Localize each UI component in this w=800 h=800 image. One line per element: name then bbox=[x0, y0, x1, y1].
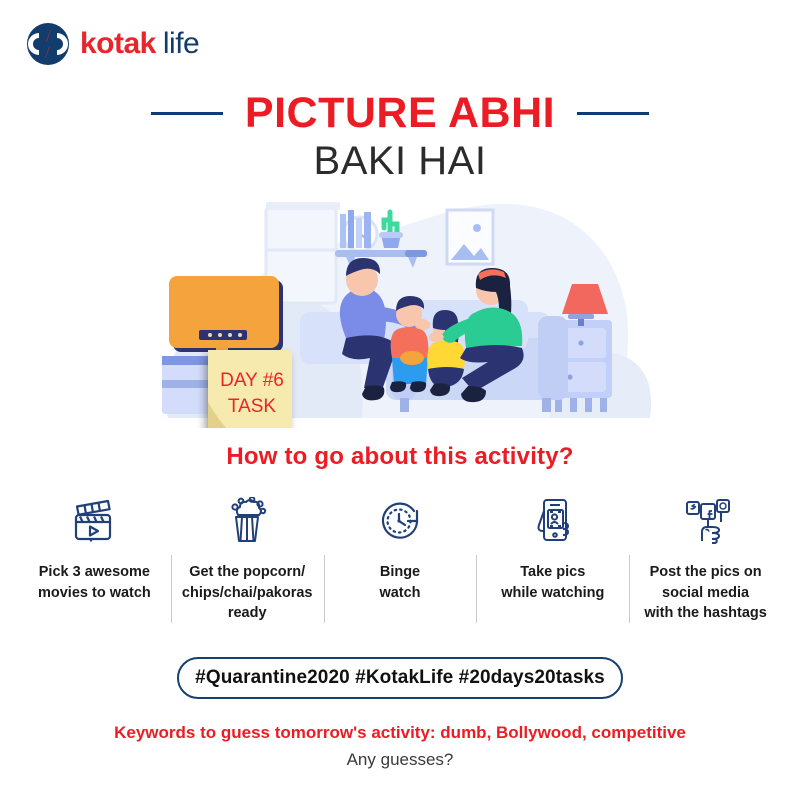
sofa-arm bbox=[538, 316, 568, 400]
step-label: Binge watch bbox=[379, 562, 420, 603]
sticky-note-line-2: TASK bbox=[228, 396, 277, 417]
step-item-popcorn: Get the popcorn/ chips/chai/pakoras read… bbox=[171, 493, 324, 624]
headline-rule-left bbox=[151, 112, 223, 115]
headline-rule-right bbox=[577, 112, 649, 115]
book bbox=[356, 218, 362, 248]
section-title: How to go about this activity? bbox=[0, 443, 800, 471]
step-label: Post the pics on social media with the h… bbox=[644, 562, 766, 624]
headline-line-1: PICTURE ABHI bbox=[245, 92, 555, 136]
popcorn-icon bbox=[222, 493, 272, 549]
footer-guess-prompt: Any guesses? bbox=[0, 750, 800, 770]
brand-logo: kotaklife bbox=[26, 22, 199, 66]
step-label: Pick 3 awesome movies to watch bbox=[38, 562, 151, 603]
cactus-plant bbox=[384, 212, 397, 234]
brand-name-secondary: life bbox=[163, 27, 199, 60]
headline-main-row: PICTURE ABHI bbox=[0, 92, 800, 136]
popcorn-bowl bbox=[400, 351, 424, 365]
hashtag-text: #Quarantine2020 #KotakLife #20days20task… bbox=[195, 667, 605, 689]
brand-wordmark: kotaklife bbox=[80, 29, 199, 59]
poster-canvas: kotaklife PICTURE ABHI BAKI HAI bbox=[0, 0, 800, 800]
social-media-hand-icon bbox=[681, 493, 731, 549]
step-item-post-social: Post the pics on social media with the h… bbox=[629, 493, 782, 624]
step-item-binge-watch: Binge watch bbox=[324, 493, 477, 603]
headline-line-2: BAKI HAI bbox=[0, 138, 800, 184]
sticky-note-line-1: DAY #6 bbox=[220, 370, 284, 391]
book bbox=[364, 212, 371, 248]
book bbox=[348, 210, 354, 248]
step-label: Get the popcorn/ chips/chai/pakoras read… bbox=[182, 562, 313, 624]
steps-row: Pick 3 awesome movies to watch Get the p… bbox=[18, 493, 782, 624]
clock-icon bbox=[376, 493, 424, 549]
phone-camera-icon bbox=[530, 493, 576, 549]
family-watching-tv-illustration: DAY #6 TASK bbox=[150, 188, 660, 428]
book bbox=[340, 214, 346, 248]
clapperboard-icon bbox=[69, 493, 119, 549]
brand-name-primary: kotak bbox=[80, 27, 156, 60]
hashtag-banner: #Quarantine2020 #KotakLife #20days20task… bbox=[177, 657, 623, 699]
step-item-pick-movies: Pick 3 awesome movies to watch bbox=[18, 493, 171, 603]
headline-block: PICTURE ABHI BAKI HAI bbox=[0, 92, 800, 184]
step-item-take-pics: Take pics while watching bbox=[476, 493, 629, 603]
footer-keywords: Keywords to guess tomorrow's activity: d… bbox=[0, 723, 800, 743]
step-label: Take pics while watching bbox=[501, 562, 604, 603]
kotak-circle-logo-icon bbox=[26, 22, 70, 66]
girl-top bbox=[427, 340, 465, 369]
